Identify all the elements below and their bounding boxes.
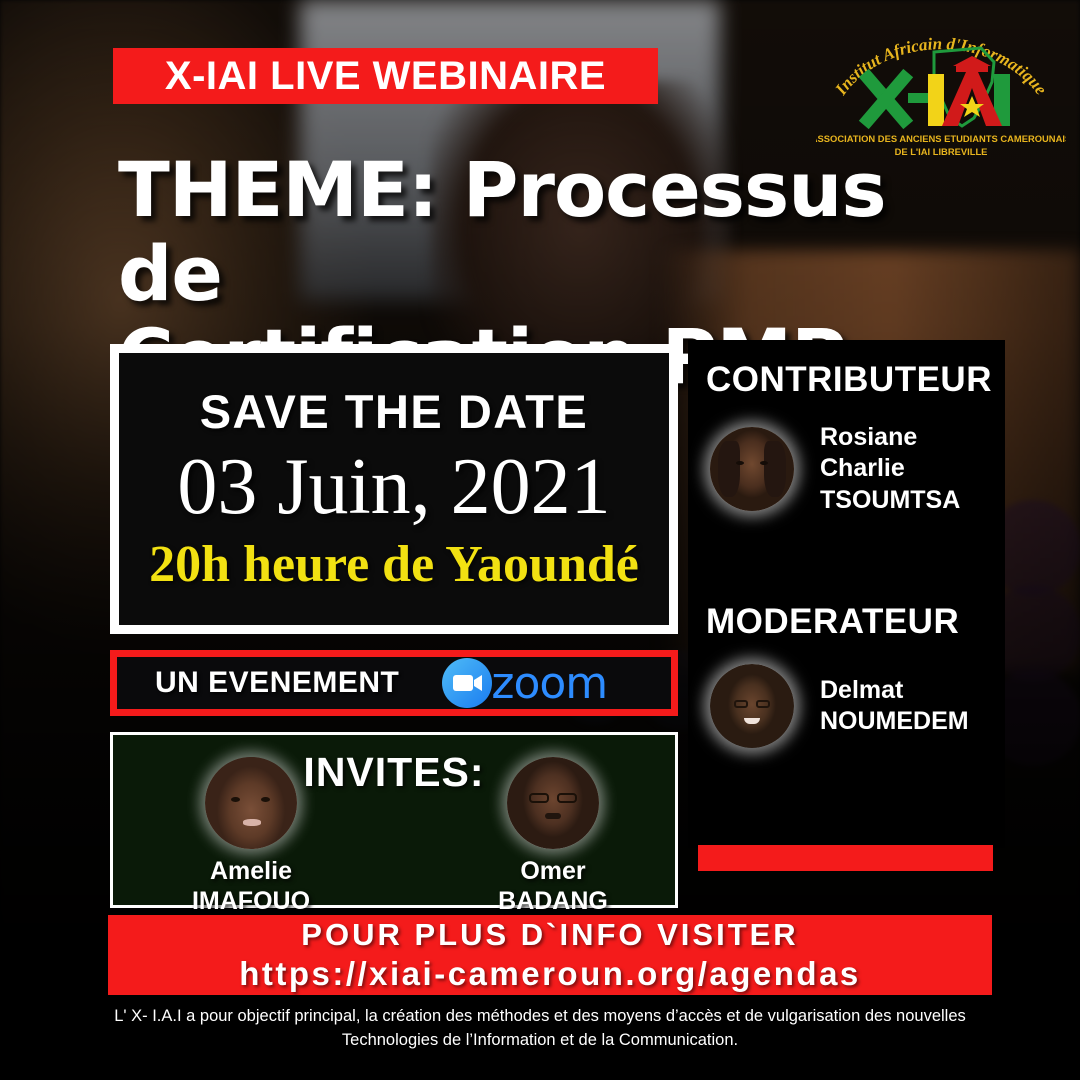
avatar (710, 664, 794, 748)
theme-line-1: THEME: Processus de (118, 145, 886, 318)
avatar (710, 427, 794, 511)
xiai-logo: Institut Africain d'Informatique (816, 22, 1066, 162)
moderator-title: MODERATEUR (706, 602, 1005, 642)
speakers-panel: CONTRIBUTEUR Rosiane Charlie TSOUMTSA MO… (688, 340, 1005, 848)
poster-canvas: X-IAI LIVE WEBINAIRE Institut Africain d… (0, 0, 1080, 1080)
moderator-person: Delmat NOUMEDEM (710, 664, 1005, 748)
save-the-date-label: SAVE THE DATE (200, 384, 589, 439)
moderator-name: Delmat NOUMEDEM (820, 675, 969, 738)
moderator-name-line2: NOUMEDEM (820, 706, 969, 737)
footer-cta-banner: POUR PLUS D`INFO VISITER https://xiai-ca… (108, 915, 992, 995)
contributor-name: Rosiane Charlie TSOUMTSA (820, 422, 960, 516)
event-time: 20h heure de Yaoundé (149, 535, 639, 594)
red-accent-bar (698, 845, 993, 871)
avatar (205, 757, 297, 849)
invite-first-name: Amelie (161, 857, 341, 887)
contributor-name-line1: Rosiane (820, 422, 960, 453)
zoom-logo: zoom (441, 657, 607, 709)
logo-sub-line1: ASSOCIATION DES ANCIENS ETUDIANTS CAMERO… (816, 133, 1066, 144)
contributor-title: CONTRIBUTEUR (706, 360, 1005, 400)
invite-name: Amelie IMAFOUO (161, 857, 341, 916)
event-platform-bar: UN EVENEMENT zoom (110, 650, 678, 716)
contributor-name-line3: TSOUMTSA (820, 485, 960, 516)
footer-url[interactable]: https://xiai-cameroun.org/agendas (239, 955, 861, 993)
invite-person: Amelie IMAFOUO (161, 757, 341, 916)
zoom-wordmark: zoom (491, 658, 607, 709)
invites-panel: INVITES: Amelie IMAFOUO Omer B (110, 732, 678, 908)
avatar (507, 757, 599, 849)
invite-name: Omer BADANG (463, 857, 643, 916)
invite-person: Omer BADANG (463, 757, 643, 916)
invite-last-name: IMAFOUO (161, 887, 341, 917)
contributor-name-line2: Charlie (820, 453, 960, 484)
disclaimer-text: L' X- I.A.I a pour objectif principal, l… (90, 1005, 990, 1053)
invite-first-name: Omer (463, 857, 643, 887)
event-date: 03 Juin, 2021 (177, 445, 610, 529)
footer-cta-text: POUR PLUS D`INFO VISITER (301, 917, 798, 953)
invite-last-name: BADANG (463, 887, 643, 917)
live-webinar-label: X-IAI LIVE WEBINAIRE (165, 54, 606, 99)
moderator-name-line1: Delmat (820, 675, 969, 706)
save-the-date-panel: SAVE THE DATE 03 Juin, 2021 20h heure de… (110, 344, 678, 634)
live-webinar-banner: X-IAI LIVE WEBINAIRE (113, 48, 658, 104)
event-platform-label: UN EVENEMENT (155, 666, 399, 700)
contributor-person: Rosiane Charlie TSOUMTSA (710, 422, 1005, 516)
video-camera-icon (441, 657, 493, 709)
